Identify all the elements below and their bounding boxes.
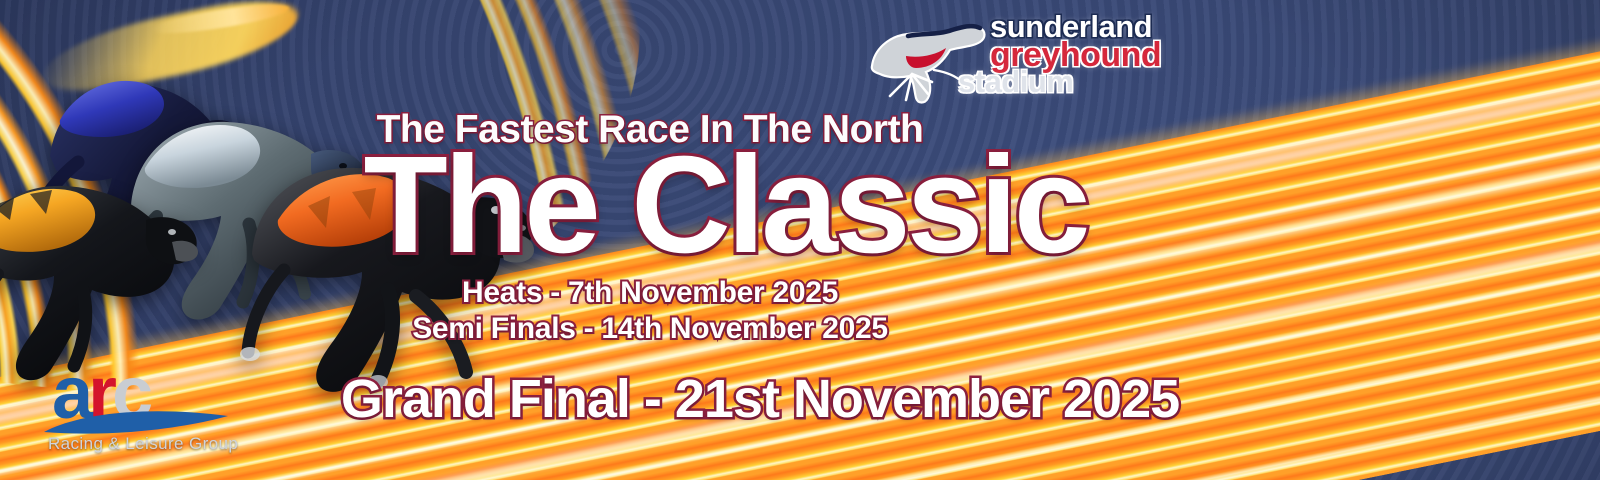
semi-finals-date: Semi Finals - 14th November 2025 [0,312,1300,346]
heats-date: Heats - 7th November 2025 [0,276,1300,310]
sunderland-greyhound-stadium-logo: sunderland greyhound stadium [862,6,1182,114]
arc-tagline: Racing & Leisure Group [48,434,238,454]
arc-racing-leisure-logo: arc Racing & Leisure Group [36,360,256,464]
classic-race-banner: sunderland greyhound stadium The Fastest… [0,0,1600,480]
stadium-logo-wordmark: sunderland greyhound stadium [990,12,1161,97]
page-title: The Classic [0,136,1450,274]
